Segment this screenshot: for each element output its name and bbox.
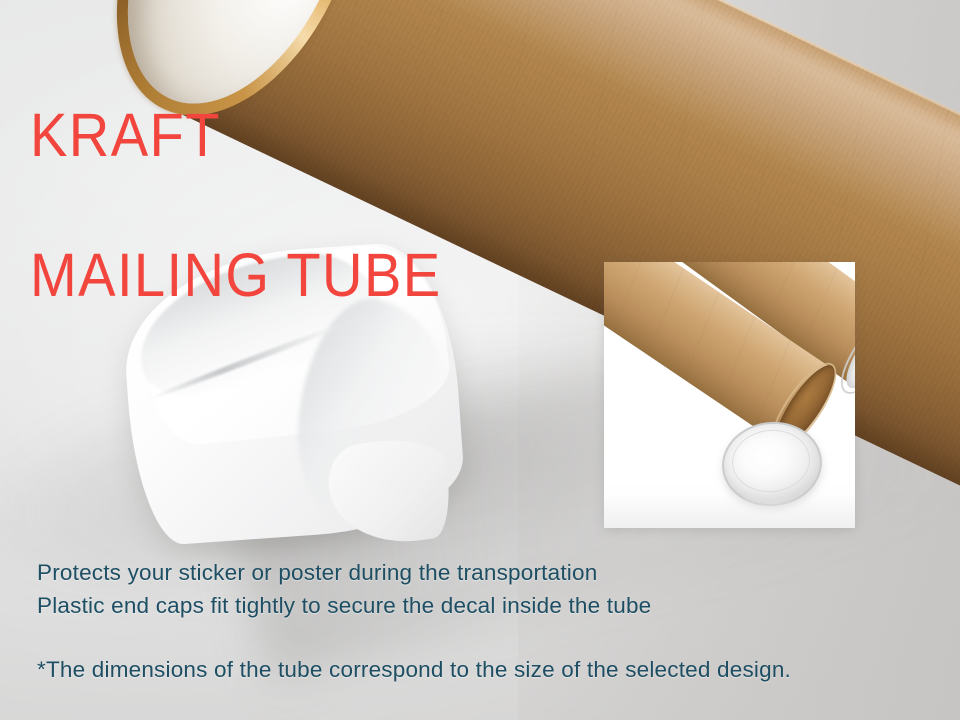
title-line-2: MAILING TUBE [30, 240, 442, 310]
feature-line-2: Plastic end caps fit tightly to secure t… [37, 589, 651, 622]
feature-description: Protects your sticker or poster during t… [37, 556, 651, 622]
page-title: KRAFT MAILING TUBE [30, 30, 442, 380]
title-line-1: KRAFT [30, 100, 442, 170]
feature-line-1: Protects your sticker or poster during t… [37, 556, 651, 589]
product-marketing-banner: KRAFT MAILING TUBE Protects your sticker… [0, 0, 960, 720]
product-photo-inset[interactable] [604, 262, 855, 528]
footnote-text: *The dimensions of the tube correspond t… [37, 655, 791, 685]
inset-floor-shade [604, 494, 855, 528]
